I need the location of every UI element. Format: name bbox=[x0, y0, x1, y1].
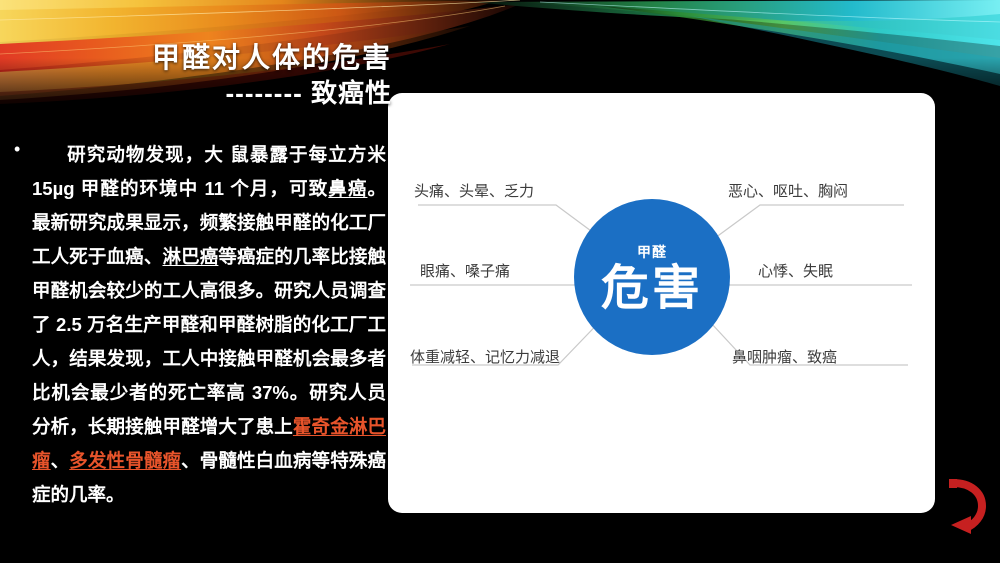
slide-title: 甲醛对人体的危害 -------- 致癌性 bbox=[0, 40, 400, 111]
diagram-label-middle-right: 心悸、失眠 bbox=[758, 260, 833, 281]
body-segment-4: 等癌症的几率比接触甲醛机会较少的工人高很多。研究人员调查了 2.5 万名生产甲醛… bbox=[32, 246, 386, 437]
body-paragraph-block: • 研究动物发现，大 鼠暴露于每立方米 15µg 甲醛的环境中 11 个月，可致… bbox=[14, 138, 386, 512]
body-paragraph-text: 研究动物发现，大 鼠暴露于每立方米 15µg 甲醛的环境中 11 个月，可致鼻癌… bbox=[32, 138, 386, 512]
title-line-primary: 甲醛对人体的危害 bbox=[0, 40, 400, 75]
body-segment-3: 淋巴癌 bbox=[162, 246, 218, 267]
diagram-label-middle-left: 眼痛、嗓子痛 bbox=[420, 260, 510, 281]
diagram-hub-circle: 甲醛 危害 bbox=[574, 199, 730, 355]
body-segment-1: 鼻癌 bbox=[328, 178, 367, 199]
bullet-point-icon: • bbox=[14, 138, 32, 512]
title-line-secondary: -------- 致癌性 bbox=[0, 77, 400, 111]
diagram-card: 甲醛 危害 头痛、头晕、乏力 眼痛、嗓子痛 体重减轻、记忆力减退 恶心、呕吐、胸… bbox=[388, 93, 935, 513]
body-segment-highlight-2: 多发性骨髓瘤 bbox=[69, 450, 181, 471]
body-segment-6: 、 bbox=[51, 450, 70, 471]
diagram-label-top-left: 头痛、头晕、乏力 bbox=[414, 180, 534, 201]
diagram-label-bottom-right: 鼻咽肿瘤、致癌 bbox=[732, 346, 837, 367]
curved-rotate-arrow-icon bbox=[944, 478, 990, 536]
diagram-label-bottom-left: 体重减轻、记忆力减退 bbox=[410, 346, 560, 367]
hub-subtitle: 甲醛 bbox=[637, 242, 667, 262]
hub-title: 危害 bbox=[601, 264, 703, 312]
slide-canvas: 甲醛对人体的危害 -------- 致癌性 • 研究动物发现，大 鼠暴露于每立方… bbox=[0, 0, 1000, 563]
diagram-label-top-right: 恶心、呕吐、胸闷 bbox=[728, 180, 848, 201]
